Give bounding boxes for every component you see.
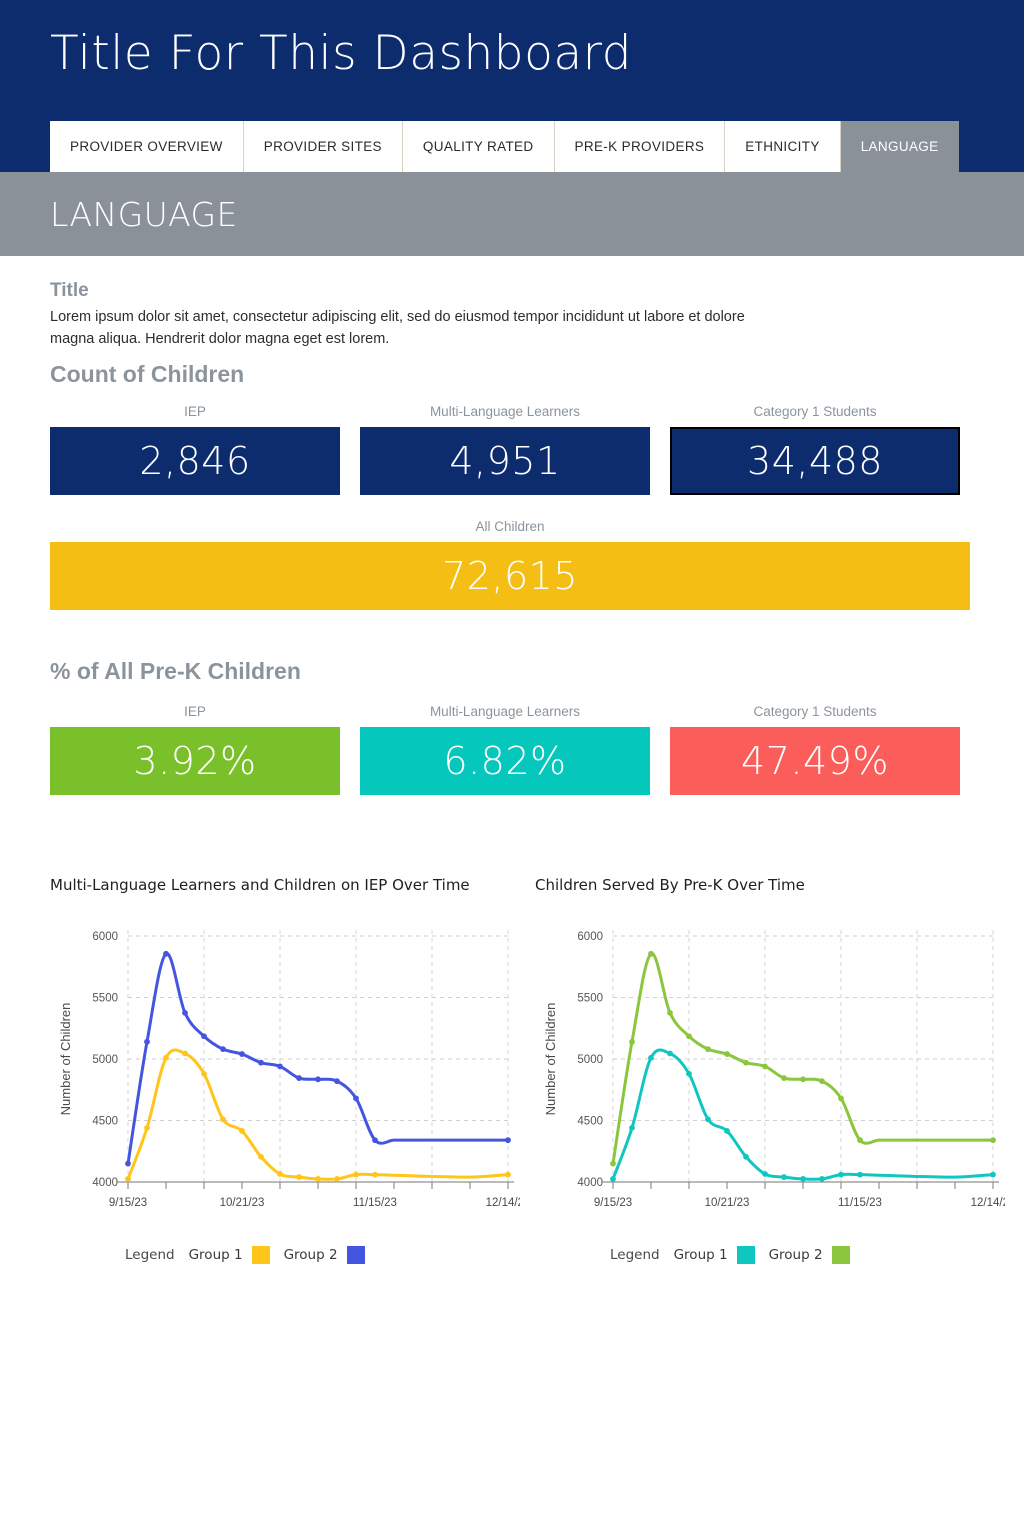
- svg-text:11/15/23: 11/15/23: [353, 1197, 397, 1209]
- legend-item-label: Group 2: [769, 1247, 823, 1263]
- kpi-value: 6.82%: [443, 739, 566, 783]
- tab-label: LANGUAGE: [861, 139, 939, 154]
- svg-text:4500: 4500: [577, 1116, 603, 1128]
- legend-item[interactable]: Group 1: [674, 1246, 755, 1264]
- legend-item[interactable]: Group 2: [769, 1246, 850, 1264]
- kpi-label: Category 1 Students: [670, 404, 960, 419]
- kpi-value-box[interactable]: 72,615: [50, 542, 970, 610]
- svg-text:5500: 5500: [577, 993, 603, 1005]
- tab-quality-rated[interactable]: QUALITY RATED: [403, 121, 555, 172]
- svg-text:9/15/23: 9/15/23: [109, 1197, 147, 1209]
- tab-pre-k-providers[interactable]: PRE-K PROVIDERS: [555, 121, 726, 172]
- kpi-value: 2,846: [139, 439, 250, 483]
- page-title: Title For This Dashboard: [50, 26, 632, 82]
- kpi-card: All Children72,615: [50, 519, 970, 610]
- kpi-card: IEP2,846: [50, 404, 340, 495]
- svg-text:9/15/23: 9/15/23: [594, 1197, 632, 1209]
- percent-section-heading: % of All Pre-K Children: [50, 658, 301, 685]
- dashboard-header: Title For This Dashboard PROVIDER OVERVI…: [0, 0, 1024, 172]
- kpi-value: 34,488: [747, 439, 883, 483]
- legend-item-label: Group 2: [284, 1247, 338, 1263]
- chart-title: Multi-Language Learners and Children on …: [50, 876, 520, 894]
- intro-title: Title: [50, 280, 790, 302]
- section-banner: LANGUAGE: [0, 172, 1024, 256]
- legend-title: Legend: [610, 1247, 660, 1263]
- tab-label: PROVIDER OVERVIEW: [70, 139, 223, 154]
- chart-panel-left: Multi-Language Learners and Children on …: [50, 876, 520, 1264]
- kpi-card: IEP3.92%: [50, 704, 340, 795]
- tab-label: ETHNICITY: [745, 139, 819, 154]
- section-title: LANGUAGE: [50, 195, 238, 234]
- tab-label: QUALITY RATED: [423, 139, 534, 154]
- svg-text:4000: 4000: [92, 1177, 118, 1189]
- svg-text:Number of Children: Number of Children: [543, 1003, 558, 1116]
- svg-text:5000: 5000: [92, 1054, 118, 1066]
- chart-legend: LegendGroup 1Group 2: [535, 1246, 1005, 1264]
- kpi-value-box[interactable]: 4,951: [360, 427, 650, 495]
- tab-label: PROVIDER SITES: [264, 139, 382, 154]
- intro-text: Lorem ipsum dolor sit amet, consectetur …: [50, 307, 790, 351]
- svg-text:11/15/23: 11/15/23: [838, 1197, 882, 1209]
- chart-legend: LegendGroup 1Group 2: [50, 1246, 520, 1264]
- svg-text:4500: 4500: [92, 1116, 118, 1128]
- kpi-card: Category 1 Students34,488: [670, 404, 960, 495]
- legend-swatch-icon: [347, 1246, 365, 1264]
- legend-swatch-icon: [832, 1246, 850, 1264]
- kpi-value-box[interactable]: 47.49%: [670, 727, 960, 795]
- kpi-label: IEP: [50, 704, 340, 719]
- kpi-value-box[interactable]: 6.82%: [360, 727, 650, 795]
- line-chart: 400045005000550060009/15/2310/21/2311/15…: [535, 900, 1005, 1240]
- tab-label: PRE-K PROVIDERS: [575, 139, 705, 154]
- kpi-value: 47.49%: [741, 739, 889, 783]
- kpi-value-box[interactable]: 3.92%: [50, 727, 340, 795]
- percent-kpi-row: IEP3.92%Multi-Language Learners6.82%Cate…: [50, 704, 960, 795]
- kpi-label: Multi-Language Learners: [360, 704, 650, 719]
- count-kpi-row: IEP2,846Multi-Language Learners4,951Cate…: [50, 404, 960, 495]
- chart-panel-right: Children Served By Pre-K Over Time400045…: [535, 876, 1005, 1264]
- legend-item-label: Group 1: [674, 1247, 728, 1263]
- tab-provider-sites[interactable]: PROVIDER SITES: [244, 121, 403, 172]
- kpi-label: IEP: [50, 404, 340, 419]
- svg-text:6000: 6000: [577, 931, 603, 943]
- tab-ethnicity[interactable]: ETHNICITY: [725, 121, 840, 172]
- svg-text:12/14/23: 12/14/23: [971, 1197, 1005, 1209]
- kpi-label: Multi-Language Learners: [360, 404, 650, 419]
- total-kpi-row: All Children72,615: [50, 519, 970, 610]
- svg-text:Number of Children: Number of Children: [58, 1003, 73, 1116]
- svg-text:6000: 6000: [92, 931, 118, 943]
- svg-text:5500: 5500: [92, 993, 118, 1005]
- legend-item[interactable]: Group 1: [189, 1246, 270, 1264]
- svg-text:10/21/23: 10/21/23: [220, 1197, 265, 1209]
- legend-swatch-icon: [252, 1246, 270, 1264]
- tab-language[interactable]: LANGUAGE: [841, 121, 959, 172]
- kpi-value-box[interactable]: 2,846: [50, 427, 340, 495]
- svg-text:12/14/23: 12/14/23: [486, 1197, 520, 1209]
- svg-text:4000: 4000: [577, 1177, 603, 1189]
- legend-swatch-icon: [737, 1246, 755, 1264]
- kpi-value: 72,615: [442, 554, 578, 598]
- kpi-value: 3.92%: [133, 739, 256, 783]
- kpi-label: All Children: [50, 519, 970, 534]
- svg-text:10/21/23: 10/21/23: [705, 1197, 750, 1209]
- tab-bar: PROVIDER OVERVIEWPROVIDER SITESQUALITY R…: [50, 121, 959, 172]
- kpi-card: Multi-Language Learners6.82%: [360, 704, 650, 795]
- legend-title: Legend: [125, 1247, 175, 1263]
- count-section-heading: Count of Children: [50, 361, 244, 388]
- kpi-card: Category 1 Students47.49%: [670, 704, 960, 795]
- svg-text:5000: 5000: [577, 1054, 603, 1066]
- kpi-value: 4,951: [449, 439, 560, 483]
- line-chart: 400045005000550060009/15/2310/21/2311/15…: [50, 900, 520, 1240]
- legend-item[interactable]: Group 2: [284, 1246, 365, 1264]
- kpi-value-box[interactable]: 34,488: [670, 427, 960, 495]
- chart-title: Children Served By Pre-K Over Time: [535, 876, 1005, 894]
- legend-item-label: Group 1: [189, 1247, 243, 1263]
- intro-block: Title Lorem ipsum dolor sit amet, consec…: [50, 280, 790, 351]
- tab-provider-overview[interactable]: PROVIDER OVERVIEW: [50, 121, 244, 172]
- kpi-label: Category 1 Students: [670, 704, 960, 719]
- dashboard-body: Title Lorem ipsum dolor sit amet, consec…: [0, 256, 1024, 1524]
- kpi-card: Multi-Language Learners4,951: [360, 404, 650, 495]
